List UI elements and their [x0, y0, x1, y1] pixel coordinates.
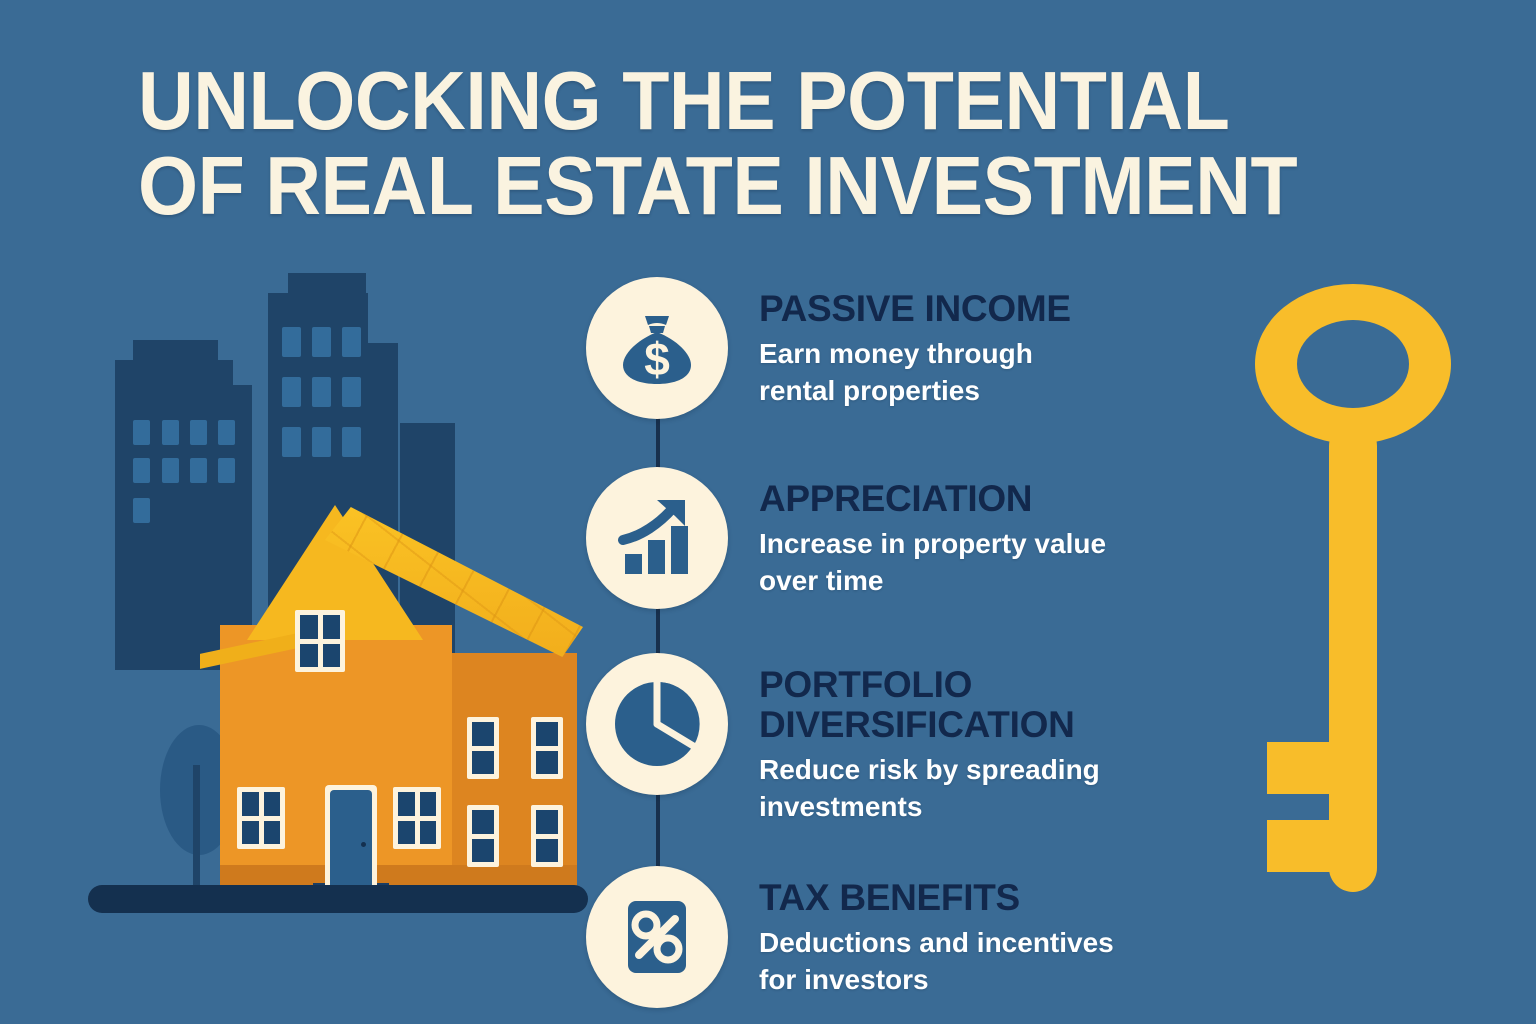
house-door — [325, 785, 377, 893]
building-window — [282, 427, 301, 457]
building-left-cap — [133, 340, 218, 365]
list-item-text: Passive Income Earn money through rental… — [728, 277, 1071, 410]
title-line-2: of Real Estate Investment — [138, 143, 1310, 228]
pie-chart-icon — [586, 653, 728, 795]
building-window — [218, 458, 235, 483]
building-window — [133, 498, 150, 523]
list-item-title: Tax Benefits — [759, 878, 1114, 918]
key-icon — [1233, 272, 1493, 932]
svg-text:$: $ — [644, 333, 670, 385]
infographic-poster: Unlocking the Potential of Real Estate I… — [0, 0, 1536, 1024]
building-window — [312, 327, 331, 357]
building-window — [190, 420, 207, 445]
benefits-list: $ Passive Income Earn money through rent… — [586, 277, 1206, 1008]
money-bag-icon: $ — [586, 277, 728, 419]
list-item-description: Reduce risk by spreading investments — [759, 752, 1100, 826]
building-center-cap — [288, 273, 366, 298]
house-door-panel — [330, 790, 372, 893]
list-item-text: Portfolio Diversification Reduce risk by… — [728, 653, 1100, 826]
building-window — [282, 327, 301, 357]
house-window-side-3 — [467, 805, 499, 867]
building-window — [133, 420, 150, 445]
list-item[interactable]: Portfolio Diversification Reduce risk by… — [586, 653, 1206, 826]
list-item[interactable]: $ Passive Income Earn money through rent… — [586, 277, 1206, 419]
list-item-title: Passive Income — [759, 289, 1071, 329]
percent-document-icon — [586, 866, 728, 1008]
house-window-front-left — [237, 787, 285, 849]
list-item-description: Earn money through rental properties — [759, 336, 1071, 410]
list-item-description: Increase in property value over time — [759, 526, 1106, 600]
house-door-knob — [361, 842, 366, 847]
building-window — [190, 458, 207, 483]
page-title: Unlocking the Potential of Real Estate I… — [138, 58, 1310, 229]
list-item-description: Deductions and incentives for investors — [759, 925, 1114, 999]
building-window — [342, 327, 361, 357]
house-window-front-right — [393, 787, 441, 849]
list-item-title: Portfolio Diversification — [759, 665, 1100, 745]
growth-chart-icon — [586, 467, 728, 609]
list-item-title: Appreciation — [759, 479, 1106, 519]
building-window — [162, 420, 179, 445]
building-window — [312, 427, 331, 457]
building-window — [312, 377, 331, 407]
building-window — [133, 458, 150, 483]
list-item-text: Appreciation Increase in property value … — [728, 467, 1106, 600]
building-window — [218, 420, 235, 445]
building-window — [342, 377, 361, 407]
title-line-1: Unlocking the Potential — [138, 58, 1310, 143]
house-illustration — [60, 255, 600, 945]
building-window — [342, 427, 361, 457]
list-item[interactable]: Tax Benefits Deductions and incentives f… — [586, 866, 1206, 1008]
building-window — [282, 377, 301, 407]
house-window-attic — [295, 610, 345, 672]
house-window-side-1 — [467, 717, 499, 779]
list-item-text: Tax Benefits Deductions and incentives f… — [728, 866, 1114, 999]
ground-bar — [88, 885, 588, 913]
house-window-side-2 — [531, 717, 563, 779]
house-body — [165, 505, 565, 895]
building-window — [162, 458, 179, 483]
house-window-side-4 — [531, 805, 563, 867]
list-item[interactable]: Appreciation Increase in property value … — [586, 467, 1206, 609]
